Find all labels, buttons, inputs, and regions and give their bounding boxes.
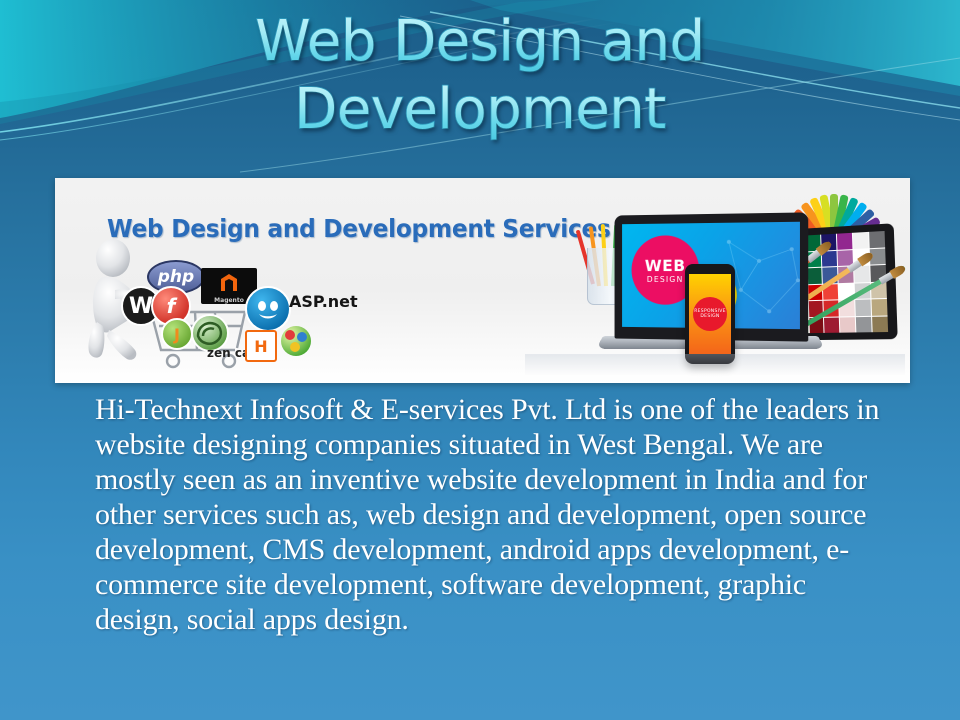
web-design-bubble-line2: DESIGN [647,275,684,284]
banner-right-artwork: WEB DESIGN UI DESIGN RESPONSIVE DESIGN [525,186,905,376]
joomla-logo: J [161,318,193,350]
responsive-design-bubble-line2: DESIGN [700,314,719,319]
title-line-1: Web Design and Web Design and [0,8,960,76]
phone-screen-content: RESPONSIVE DESIGN [689,274,731,354]
html5-logo: H [245,330,277,362]
opensource-spheres-icon [281,326,311,356]
drupal-droplet-icon [247,288,289,330]
title-line-1-text: Web Design and [0,8,960,76]
joomla-logo-label: J [163,320,191,348]
banner-image: Web Design and Development Services [55,178,910,383]
aspnet-logo: ASP.net [289,292,358,311]
aspnet-logo-label: ASP.net [289,292,358,311]
device-reflection [525,354,905,376]
title-line-2-text: Development [0,76,960,144]
html5-logo-label: H [247,332,275,360]
web-design-bubble-line1: WEB [645,256,686,275]
smartphone-device: RESPONSIVE DESIGN [685,264,735,364]
title-line-2: Development Development [0,76,960,144]
responsive-design-bubble: RESPONSIVE DESIGN [693,297,727,331]
ie-swirl-icon [193,316,227,350]
slide-title: Web Design and Web Design and Developmen… [0,8,960,144]
presentation-slide: Web Design and Web Design and Developmen… [0,0,960,720]
body-paragraph: Hi-Technext Infosoft & E-services Pvt. L… [95,392,885,637]
opensource-logo [281,326,311,356]
banner-left-artwork: php Magento W f [73,238,363,378]
